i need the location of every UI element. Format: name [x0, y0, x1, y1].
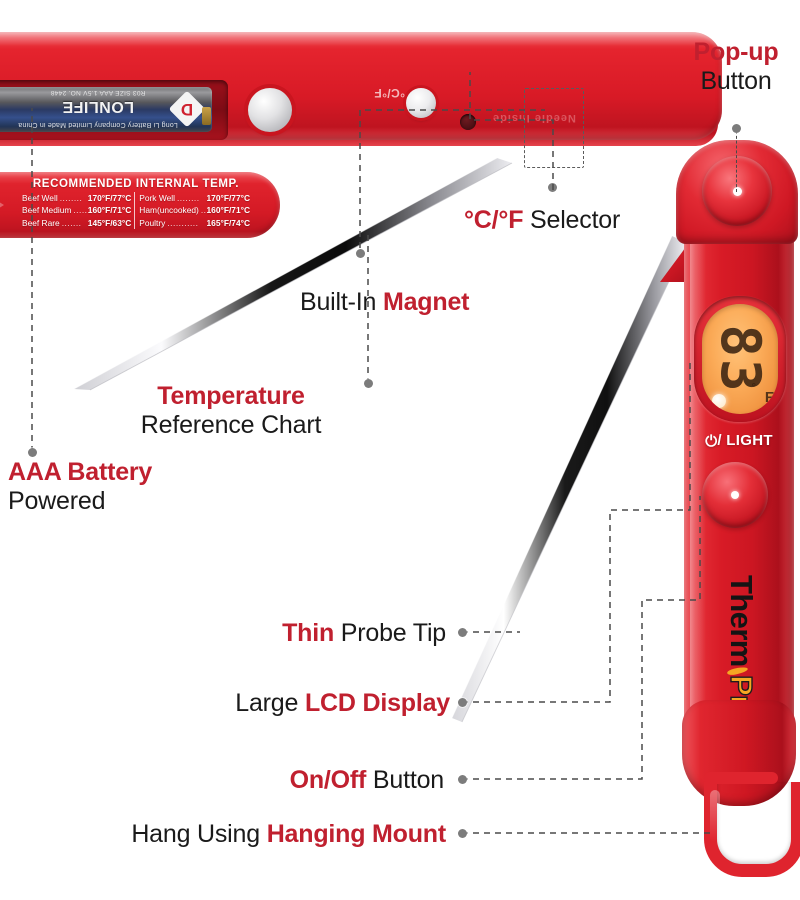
- callout-lcd-display-highlight: LCD Display: [305, 689, 450, 717]
- arrow-marker-icon: [0, 186, 4, 224]
- battery-spec-text: R03 SIZE AAA 1.5V NO. 2448: [0, 89, 212, 96]
- chart-item-name: Beef Rare: [22, 217, 62, 229]
- chart-item-value: 160°F/71°C: [207, 204, 250, 216]
- chart-item-value: 170°F/77°C: [207, 192, 250, 204]
- temperature-reference-chart-plate: RECOMMENDED INTERNAL TEMP. Beef Well ...…: [0, 172, 280, 238]
- reference-chart-heading: RECOMMENDED INTERNAL TEMP.: [22, 178, 250, 190]
- callout-aaa-battery-highlight: AAA Battery: [8, 458, 152, 486]
- callout-thin-probe-tip-highlight: Thin: [282, 619, 334, 647]
- chart-item-name: Poultry: [139, 217, 167, 229]
- callout-dot-cf-selector: [548, 183, 557, 192]
- callout-popup-button-highlight: Pop-up: [694, 38, 779, 66]
- callout-popup-button: Pop-up Button: [656, 38, 800, 96]
- callout-on-off-button: On/Off Button: [178, 766, 444, 795]
- lcd-degree-symbol: °: [752, 382, 756, 394]
- callout-popup-button-plain: Button: [700, 67, 771, 95]
- table-row: Pork Well ........ 170°F/77°C: [139, 192, 250, 204]
- callout-on-off-button-highlight: On/Off: [290, 766, 367, 794]
- table-row: Poultry ........... 165°F/74°C: [139, 217, 250, 229]
- chart-item-value: 145°F/63°C: [88, 217, 131, 229]
- table-row: Beef Rare ....... 145°F/63°C: [22, 217, 131, 229]
- leader-lcd-display-path: [462, 360, 690, 702]
- chart-item-name: Ham(uncooked): [139, 204, 201, 216]
- built-in-magnet-region: [524, 88, 584, 168]
- callout-built-in-magnet-highlight: Magnet: [383, 288, 469, 316]
- callout-dot-aaa-battery: [28, 448, 37, 457]
- callout-hanging-mount-highlight: Hanging Mount: [267, 820, 446, 848]
- reference-chart-table: Beef Well ........ 170°F/77°C Beef Mediu…: [22, 192, 250, 229]
- aaa-battery-cell: R03 SIZE AAA 1.5V NO. 2448 LONLIFE Long …: [0, 87, 212, 132]
- popup-release-button-top[interactable]: [406, 88, 436, 118]
- infographic-canvas: R03 SIZE AAA 1.5V NO. 2448 LONLIFE Long …: [0, 0, 800, 900]
- callout-built-in-magnet: Built-In Magnet: [300, 288, 469, 317]
- chart-item-value: 160°F/71°C: [88, 204, 131, 216]
- callout-aaa-battery-plain: Powered: [8, 487, 105, 515]
- callout-dot-thin-probe-tip: [458, 628, 467, 637]
- callout-dot-on-off-button: [458, 775, 467, 784]
- top-device-body: R03 SIZE AAA 1.5V NO. 2448 LONLIFE Long …: [0, 32, 722, 140]
- callout-aaa-battery: AAA Battery Powered: [8, 458, 238, 516]
- callout-dot-lcd-display: [458, 698, 467, 707]
- chart-item-name: Pork Well: [139, 192, 177, 204]
- chart-item-name: Beef Medium: [22, 204, 73, 216]
- chart-item-name: Beef Well: [22, 192, 60, 204]
- cf-selector-button[interactable]: [248, 88, 292, 132]
- probe-needle-lower: [452, 236, 687, 722]
- lcd-display-frame: 83 ° F: [694, 296, 786, 422]
- battery-diamond-glyph: D: [174, 96, 200, 122]
- callout-lcd-display: Large LCD Display: [178, 689, 450, 718]
- popup-button[interactable]: [702, 156, 772, 226]
- reference-chart-left-column: Beef Well ........ 170°F/77°C Beef Mediu…: [22, 192, 135, 229]
- power-light-text: / LIGHT: [717, 432, 772, 449]
- callout-dot-popup-button: [732, 124, 741, 133]
- callout-temperature-chart-plain: Reference Chart: [141, 411, 321, 439]
- chart-item-dots: ........: [60, 192, 88, 204]
- chart-item-dots: ........: [177, 192, 207, 204]
- table-row: Ham(uncooked) .. 160°F/71°C: [139, 204, 250, 216]
- chart-item-value: 170°F/77°C: [88, 192, 131, 204]
- callout-cf-selector: °C/°F Selector: [464, 206, 620, 235]
- callout-dot-built-in-magnet: [356, 249, 365, 258]
- power-icon: ⏻: [705, 433, 717, 450]
- lcd-unit-label: F: [765, 389, 774, 406]
- callout-cf-selector-plain: Selector: [523, 206, 620, 234]
- power-light-label: ⏻/ LIGHT: [686, 432, 792, 449]
- brand-name-primary: Therm: [723, 575, 759, 667]
- callout-dot-hanging-mount: [458, 829, 467, 838]
- on-off-button[interactable]: [702, 462, 768, 528]
- reference-chart-content: RECOMMENDED INTERNAL TEMP. Beef Well ...…: [22, 178, 250, 229]
- callout-temperature-chart-highlight: Temperature: [157, 382, 304, 410]
- callout-temperature-chart: Temperature Reference Chart: [88, 382, 374, 440]
- chart-item-dots: ...........: [167, 217, 206, 229]
- callout-lcd-display-plain: Large: [235, 689, 305, 717]
- callout-thin-probe-tip: Thin Probe Tip: [178, 619, 446, 648]
- battery-origin-text: Long Li Battery Company Limited Made in …: [0, 121, 212, 128]
- reference-chart-right-column: Pork Well ........ 170°F/77°C Ham(uncook…: [135, 192, 250, 229]
- table-row: Beef Well ........ 170°F/77°C: [22, 192, 131, 204]
- callout-on-off-button-plain: Button: [366, 766, 444, 794]
- callout-built-in-magnet-plain: Built-In: [300, 288, 383, 316]
- battery-diamond-logo: D: [169, 91, 206, 128]
- lcd-display: 83 ° F: [702, 304, 778, 414]
- hanging-mount-gloss: [710, 790, 720, 842]
- chart-item-value: 165°F/74°C: [207, 217, 250, 229]
- chart-item-dots: ..: [201, 204, 207, 216]
- screw-hole: [460, 114, 476, 130]
- leader-popup-button: [736, 131, 737, 192]
- cf-marking-text: °C/°F: [374, 86, 405, 100]
- table-row: Beef Medium ..... 160°F/71°C: [22, 204, 131, 216]
- lcd-backlight-highlight: [712, 394, 726, 408]
- callout-hanging-mount-plain: Hang Using: [131, 820, 266, 848]
- chart-item-dots: .......: [62, 217, 88, 229]
- battery-positive-terminal: [202, 107, 211, 125]
- chart-item-dots: .....: [73, 204, 87, 216]
- probe-needle-lower-edge: [452, 236, 672, 718]
- callout-hanging-mount: Hang Using Hanging Mount: [110, 820, 446, 849]
- leader-on-off-path: [462, 496, 700, 779]
- callout-cf-selector-highlight: °C/°F: [464, 206, 523, 234]
- callout-thin-probe-tip-plain: Probe Tip: [334, 619, 446, 647]
- battery-compartment: R03 SIZE AAA 1.5V NO. 2448 LONLIFE Long …: [0, 80, 228, 140]
- probe-needle-lower-edge2: [462, 243, 687, 722]
- lcd-temperature-reading: 83: [713, 324, 767, 393]
